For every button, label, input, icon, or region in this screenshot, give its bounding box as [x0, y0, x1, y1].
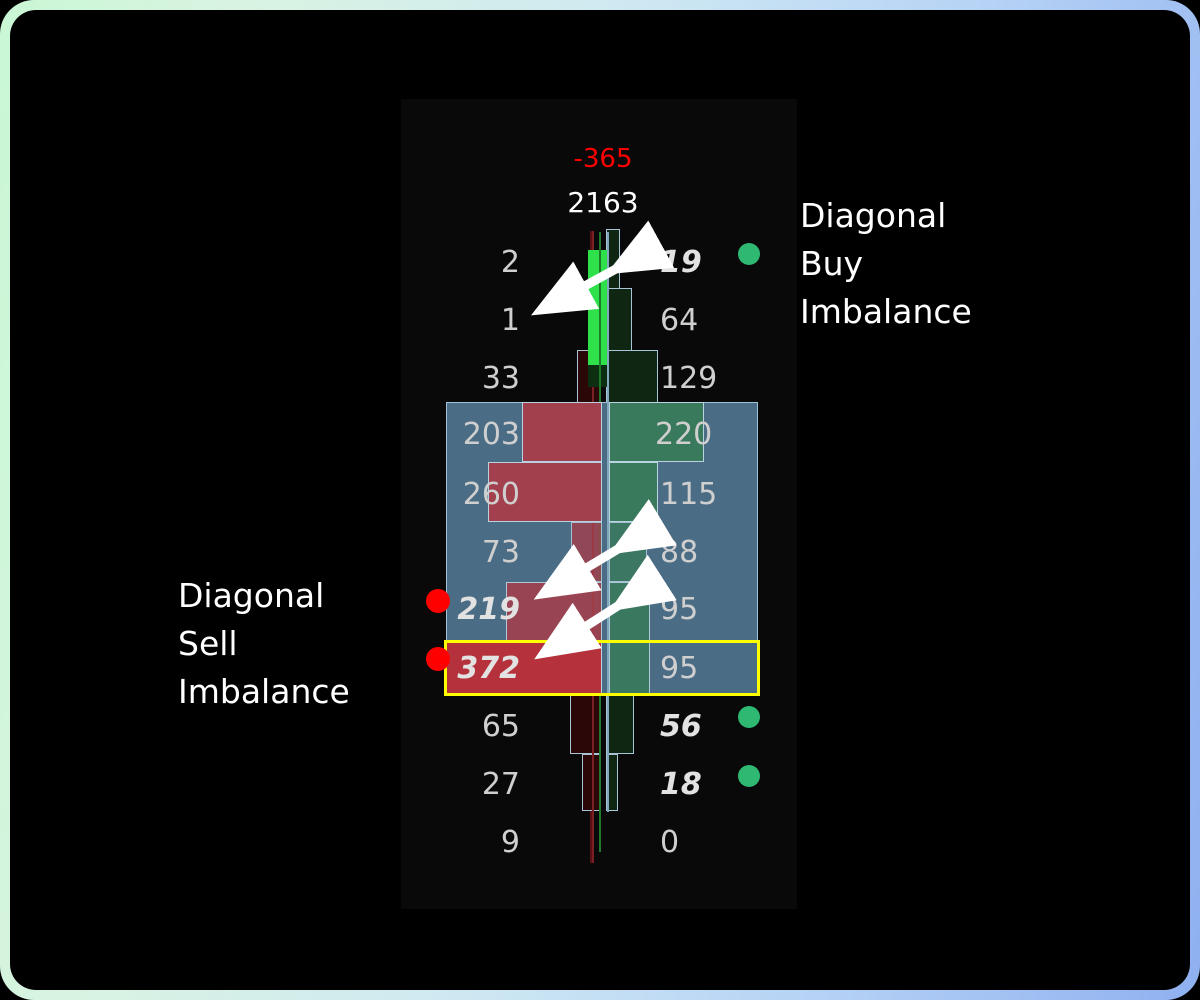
ask-value: 95 — [660, 595, 770, 625]
bid-cell[interactable] — [571, 522, 602, 582]
profile-buy-bar — [606, 694, 634, 754]
profile-buy-bar — [606, 288, 632, 352]
ask-cell[interactable] — [609, 582, 650, 642]
sell-imbalance-label: Diagonal Sell Imbalance — [178, 572, 350, 716]
gradient-frame: -365 2163 — [0, 0, 1200, 1000]
bid-value: 203 — [410, 420, 520, 450]
ask-value: 64 — [660, 306, 770, 336]
bid-value: 2 — [410, 248, 520, 278]
buy-imbalance-dot — [738, 706, 760, 728]
bid-value: 1 — [410, 306, 520, 336]
bid-value: 9 — [410, 828, 520, 858]
bid-cell[interactable] — [522, 402, 602, 462]
ask-value: 88 — [660, 538, 770, 568]
ask-value: 115 — [660, 480, 770, 510]
buy-imbalance-label: Diagonal Buy Imbalance — [800, 192, 972, 336]
ask-cell[interactable] — [609, 462, 658, 522]
bid-value: 33 — [410, 364, 520, 394]
bid-value: 260 — [410, 480, 520, 510]
delta-value: -365 — [538, 146, 668, 172]
bid-value: 73 — [410, 538, 520, 568]
bid-cell[interactable] — [506, 582, 602, 642]
ask-value: 0 — [660, 828, 770, 858]
bid-value: 65 — [410, 712, 520, 742]
profile-buy-bar — [606, 350, 658, 407]
ask-value: 129 — [660, 364, 770, 394]
profile-sell-bar — [570, 694, 601, 754]
screen-inner: -365 2163 — [10, 10, 1190, 990]
candle-body-lower — [588, 365, 607, 387]
ask-value: 95 — [660, 654, 770, 684]
candle-body — [588, 250, 607, 365]
sell-imbalance-dot — [426, 647, 450, 671]
buy-imbalance-dot — [738, 765, 760, 787]
buy-imbalance-dot — [738, 243, 760, 265]
ask-cell[interactable] — [609, 522, 647, 582]
bid-value: 27 — [410, 770, 520, 800]
ask-value: 220 — [655, 420, 765, 450]
volume-value: 2163 — [533, 189, 673, 217]
sell-imbalance-dot — [426, 589, 450, 613]
